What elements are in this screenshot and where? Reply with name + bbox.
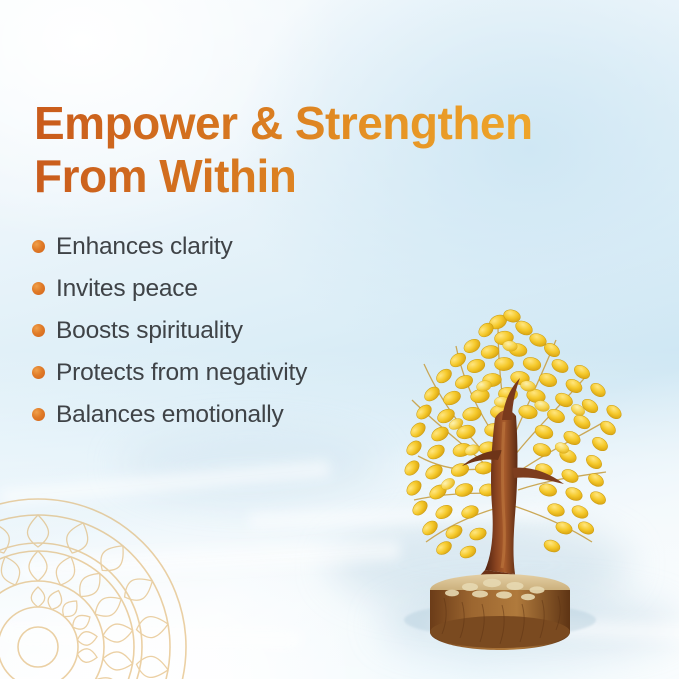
bullet-dot-icon xyxy=(32,240,45,253)
benefit-label: Enhances clarity xyxy=(56,233,233,261)
product-image-citrine-tree xyxy=(352,150,672,650)
benefit-label: Boosts spirituality xyxy=(56,317,243,345)
benefit-label: Invites peace xyxy=(56,275,198,303)
benefit-label: Balances emotionally xyxy=(56,401,284,429)
headline-line-1: Empower & Strengthen xyxy=(34,97,533,149)
bullet-dot-icon xyxy=(32,366,45,379)
bullet-dot-icon xyxy=(32,324,45,337)
bullet-dot-icon xyxy=(32,408,45,421)
bullet-dot-icon xyxy=(32,282,45,295)
citrine-tree-graphic xyxy=(352,150,672,650)
banner-canvas: Empower & Strengthen From Within Enhance… xyxy=(0,0,679,679)
benefit-label: Protects from negativity xyxy=(56,359,307,387)
